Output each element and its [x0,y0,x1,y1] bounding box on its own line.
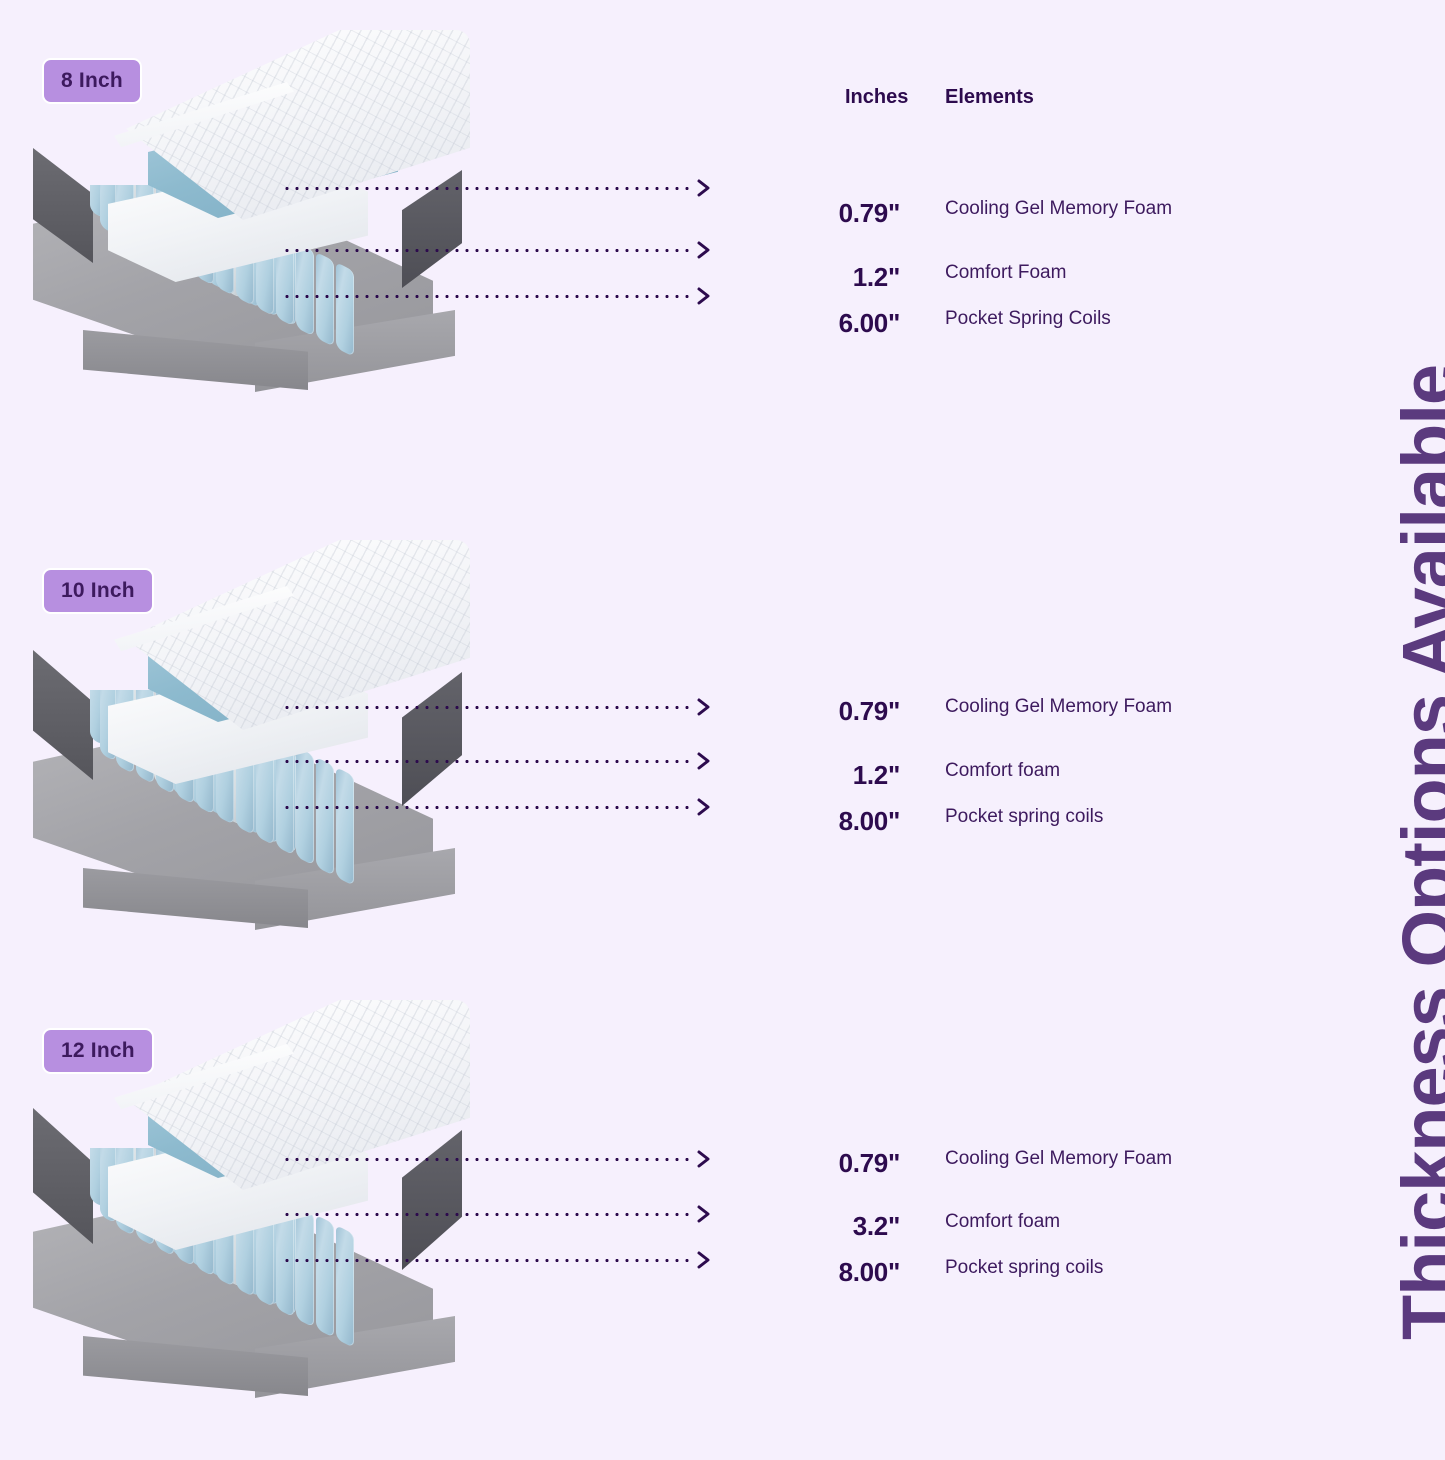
arrow-head-icon [696,697,712,717]
spec-element-label: Pocket spring coils [945,806,1103,828]
spec-inches-value: 8.00" [830,806,900,837]
dotted-leader [282,187,695,190]
thickness-section-8-inch: 8 Inch Inches Elements [0,30,1260,490]
dotted-leader [282,706,695,709]
thickness-badge: 10 Inch [42,568,154,614]
dotted-leader [282,1259,695,1262]
spec-inches-value: 8.00" [830,1257,900,1288]
connector-line-row-2 [282,1258,712,1262]
spec-row: 0.79" Cooling Gel Memory Foam [830,1148,1230,1174]
dotted-leader [282,249,695,252]
mattress-cutaway-illustration: 10 Inch [30,540,470,920]
thickness-badge: 12 Inch [42,1028,154,1074]
spec-row: 1.2" Comfort Foam [830,262,1230,288]
connector-line-row-0 [282,1157,712,1161]
arrow-head-icon [696,1250,712,1270]
arrow-head-icon [696,751,712,771]
thickness-badge: 8 Inch [42,58,142,104]
arrow-head-icon [696,1204,712,1224]
spec-inches-value: 0.79" [830,696,900,727]
spec-inches-value: 1.2" [830,760,900,791]
spec-element-label: Comfort foam [945,760,1060,782]
mattress-cutaway-illustration: 8 Inch [30,30,470,410]
thickness-section-12-inch: 12 Inch 0.79" Cooling Gel Memory Foam [0,1000,1260,1460]
spec-row: 0.79" Cooling Gel Memory Foam [830,696,1230,722]
spec-inches-value: 1.2" [830,262,900,293]
mattress-cutaway-illustration: 12 Inch [30,1000,470,1380]
dotted-leader [282,806,695,809]
spec-element-label: Cooling Gel Memory Foam [945,1148,1172,1170]
connector-line-row-1 [282,1212,712,1216]
column-header-elements: Elements [945,86,1034,109]
dotted-leader [282,1213,695,1216]
spec-inches-value: 0.79" [830,198,900,229]
spec-inches-value: 0.79" [830,1148,900,1179]
arrow-head-icon [696,286,712,306]
spec-element-label: Cooling Gel Memory Foam [945,198,1172,220]
spec-row: 3.2" Comfort foam [830,1211,1230,1237]
mattress-side-left [33,1108,93,1244]
infographic-page: 8 Inch Inches Elements [0,0,1445,1445]
spec-row: 8.00" Pocket spring coils [830,806,1230,832]
spec-row: 8.00" Pocket spring coils [830,1257,1230,1283]
spec-row: 0.79" Cooling Gel Memory Foam [830,198,1230,224]
connector-line-row-2 [282,294,712,298]
spec-element-label: Comfort Foam [945,262,1066,284]
thickness-section-10-inch: 10 Inch 0.79" Cooling Gel Memory Foam [0,540,1260,1000]
spec-element-label: Pocket Spring Coils [945,308,1111,330]
arrow-head-icon [696,178,712,198]
spec-row: 6.00" Pocket Spring Coils [830,308,1230,334]
arrow-head-icon [696,1149,712,1169]
connector-line-row-0 [282,705,712,709]
dotted-leader [282,1158,695,1161]
spec-element-label: Cooling Gel Memory Foam [945,696,1172,718]
column-header-inches: Inches [845,86,908,109]
arrow-head-icon [696,240,712,260]
spec-row: 1.2" Comfort foam [830,760,1230,786]
vertical-headline-text: Thickness Options Available [1386,365,1445,1340]
connector-line-row-0 [282,186,712,190]
spec-element-label: Comfort foam [945,1211,1060,1233]
connector-line-row-1 [282,759,712,763]
spec-inches-value: 3.2" [830,1211,900,1242]
dotted-leader [282,760,695,763]
connector-line-row-2 [282,805,712,809]
dotted-leader [282,295,695,298]
spec-element-label: Pocket spring coils [945,1257,1103,1279]
vertical-headline: Thickness Options Available [1268,0,1438,1445]
spec-inches-value: 6.00" [830,308,900,339]
connector-line-row-1 [282,248,712,252]
arrow-head-icon [696,797,712,817]
